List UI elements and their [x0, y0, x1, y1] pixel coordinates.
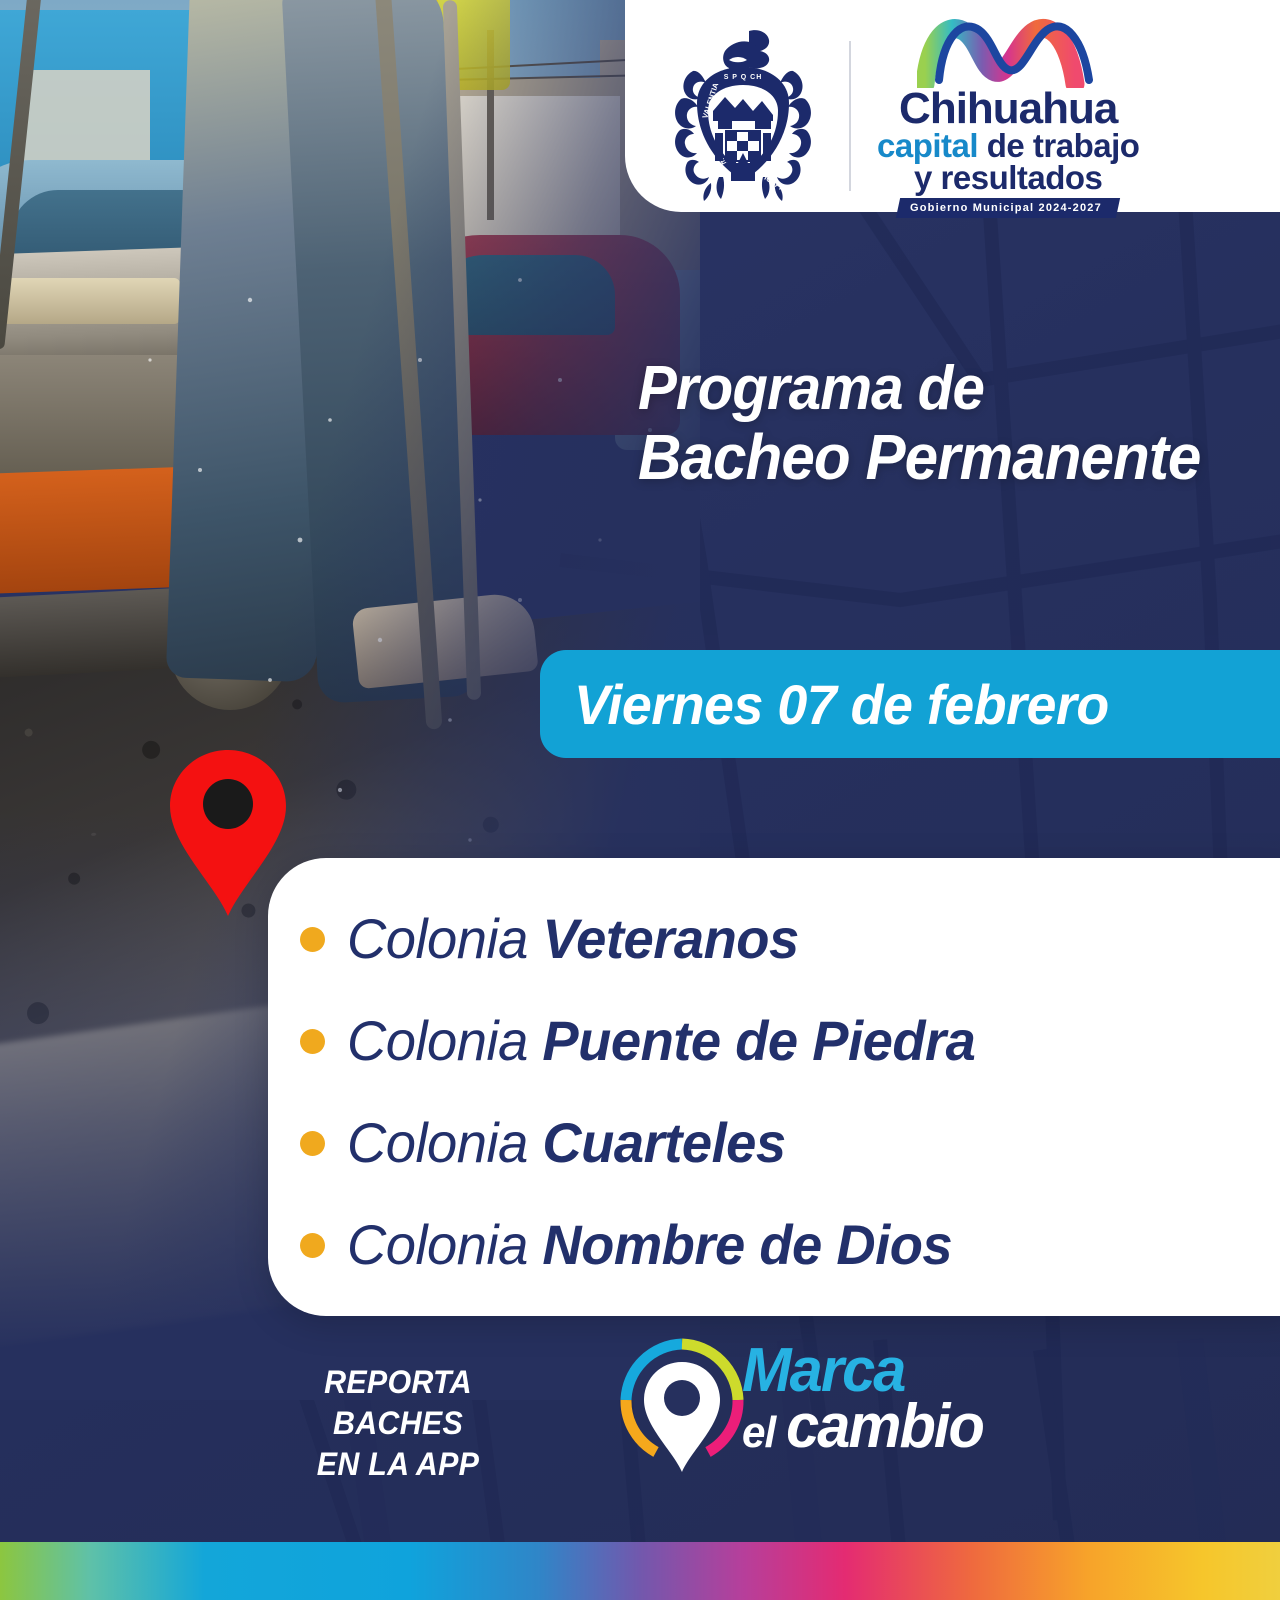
gobierno-municipal-text: Gobierno Municipal 2024-2027 [910, 202, 1102, 214]
el-word: el [742, 1408, 786, 1457]
brand-line1: Chihuahua [877, 88, 1139, 130]
logo-divider [849, 41, 851, 191]
footer-section: REPORTA BACHES EN LA APP Marca el cambio [0, 1320, 1280, 1540]
brand-line2: capital de trabajo [877, 130, 1139, 162]
page-title: Programa de Bacheo Permanente [638, 356, 1221, 492]
list-item-text: Colonia Puente de Piedra [347, 1013, 975, 1069]
list-item-lead: Colonia [347, 907, 542, 970]
list-item-text: Colonia Veteranos [347, 911, 799, 967]
reporta-line1: REPORTA BACHES [256, 1362, 541, 1444]
chihuahua-wave-icon [917, 14, 1099, 88]
list-item: Colonia Veteranos [294, 892, 1280, 986]
chihuahua-coat-of-arms-icon: S P Q CH VALENTIA LEALTAD HOSPITALIDAD [663, 27, 823, 205]
location-pin-marker-icon [166, 748, 290, 918]
list-item: Colonia Puente de Piedra [294, 994, 1280, 1088]
bullet-dot-icon [300, 1233, 325, 1258]
title-line2: Bacheo Permanente [638, 423, 1221, 492]
date-text: Viernes 07 de febrero [574, 672, 1109, 737]
marca-el-cambio-pin-icon [612, 1334, 752, 1484]
rainbow-bottom-strip [0, 1542, 1280, 1600]
header-logo-card: S P Q CH VALENTIA LEALTAD HOSPITALIDAD [625, 0, 1280, 212]
list-item: Colonia Nombre de Dios [294, 1198, 1280, 1292]
el-cambio-word: el cambio [742, 1399, 983, 1455]
list-item-name: Puente de Piedra [542, 1009, 975, 1072]
marca-word: Marca [742, 1346, 983, 1397]
colonias-list: Colonia Veteranos Colonia Puente de Pied… [294, 892, 1280, 1292]
reporta-baches-caption: REPORTA BACHES EN LA APP [256, 1362, 541, 1485]
list-item-lead: Colonia [347, 1111, 542, 1174]
list-item: Colonia Cuarteles [294, 1096, 1280, 1190]
list-item-text: Colonia Cuarteles [347, 1115, 786, 1171]
list-item-lead: Colonia [347, 1213, 542, 1276]
bullet-dot-icon [300, 1029, 325, 1054]
chihuahua-brand-lockup: Chihuahua capital de trabajo y resultado… [877, 14, 1139, 218]
svg-text:S P Q CH: S P Q CH [724, 74, 763, 81]
colonias-list-card: Colonia Veteranos Colonia Puente de Pied… [268, 858, 1280, 1316]
bullet-dot-icon [300, 1131, 325, 1156]
list-item-lead: Colonia [347, 1009, 542, 1072]
gobierno-municipal-bar: Gobierno Municipal 2024-2027 [896, 198, 1120, 218]
date-banner: Viernes 07 de febrero [540, 650, 1280, 758]
list-item-name: Nombre de Dios [542, 1213, 952, 1276]
bullet-dot-icon [300, 927, 325, 952]
brand-line3: y resultados [877, 162, 1139, 194]
list-item-name: Veteranos [542, 907, 798, 970]
list-item-name: Cuarteles [542, 1111, 785, 1174]
list-item-text: Colonia Nombre de Dios [347, 1217, 952, 1273]
marca-el-cambio-wordmark: Marca el cambio [742, 1346, 993, 1455]
title-line1: Programa de [638, 356, 1221, 423]
cambio-word: cambio [786, 1392, 983, 1461]
poster-canvas: S P Q CH VALENTIA LEALTAD HOSPITALIDAD [0, 0, 1280, 1600]
reporta-line2: EN LA APP [256, 1444, 541, 1485]
